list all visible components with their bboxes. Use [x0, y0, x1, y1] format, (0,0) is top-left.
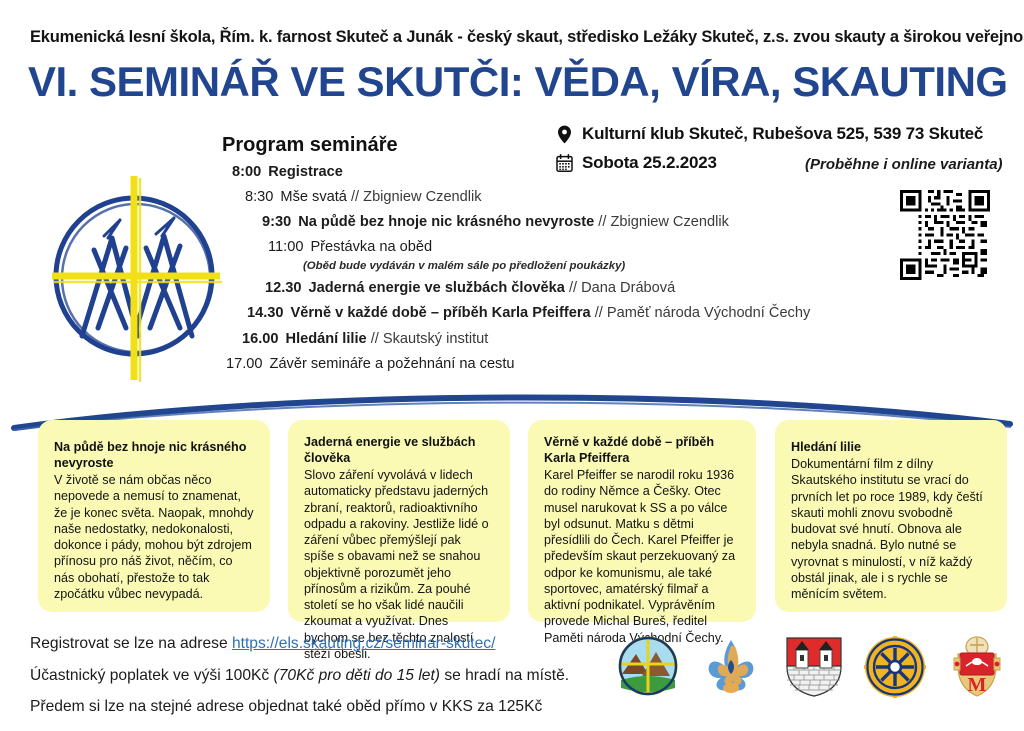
calendar-icon	[556, 154, 573, 173]
program-row: 12.30Jaderná energie ve službách člověka…	[0, 281, 860, 296]
fee-line: Účastnický poplatek ve výši 100Kč (70Kč …	[30, 668, 630, 684]
registration-link[interactable]: https://els.skauting.cz/seminar-skutec/	[232, 635, 495, 652]
program-time: 17.00	[226, 356, 263, 372]
registration-line: Registrovat se lze na adrese https://els…	[30, 636, 630, 652]
program-heading: Program semináře	[222, 134, 398, 157]
program-time: 9:30	[262, 214, 291, 230]
abstract-card: Hledání lilie Dokumentární film z dílny …	[775, 420, 1007, 612]
card-heading: Věrně v každé době – příběh Karla Pfeiff…	[544, 434, 740, 466]
footer-info: Registrovat se lze na adrese https://els…	[30, 636, 630, 731]
program-time: 16.00	[242, 331, 279, 347]
svg-text:M: M	[968, 674, 987, 696]
program-speaker: // Skautský institut	[371, 331, 489, 347]
program-row: 14.30Věrně v každé době – příběh Karla P…	[0, 306, 860, 321]
lunch-note: (Oběd bude vydáván v malém sále po předl…	[0, 260, 860, 272]
map-pin-icon	[556, 125, 573, 144]
program-time: 8:30	[245, 189, 273, 205]
registration-label: Registrovat se lze na adrese	[30, 635, 232, 652]
program-title: Závěr semináře a požehnání na cestu	[270, 356, 515, 372]
program-title: Na půdě bez hnoje nic krásného nevyroste	[298, 214, 594, 230]
program-row: 17.00Závěr semináře a požehnání na cestu	[0, 357, 860, 372]
program-title: Registrace	[268, 164, 343, 180]
fee-label: Účastnický poplatek ve výši 100Kč	[30, 667, 274, 684]
program-time: 8:00	[232, 164, 261, 180]
program-row: 9:30Na půdě bez hnoje nic krásného nevyr…	[0, 215, 860, 230]
program-title: Jaderná energie ve službách člověka	[309, 280, 565, 296]
program-title: Hledání lilie	[286, 331, 367, 347]
fee-suffix: se hradí na místě.	[440, 667, 569, 684]
program-speaker: // Zbigniew Czendlik	[598, 214, 729, 230]
organizers-line: Ekumenická lesní škola, Řím. k. farnost …	[30, 28, 994, 47]
venue-block: Kulturní klub Skuteč, Rubešova 525, 539 …	[556, 124, 1016, 182]
page-title: VI. SEMINÁŘ VE SKUTČI: VĚDA, VÍRA, SKAUT…	[28, 58, 1013, 106]
ekumenicka-lesni-skola-logo-icon	[618, 636, 678, 696]
qr-code[interactable]	[900, 190, 990, 280]
program-row: 11:00Přestávka na oběd	[0, 240, 860, 255]
abstract-card: Na půdě bez hnoje nic krásného nevyroste…	[38, 420, 270, 612]
partner-logos: M	[608, 636, 1018, 712]
lunch-order-line: Předem si lze na stejné adrese objednat …	[30, 699, 630, 715]
program-speaker: // Zbigniew Czendlik	[351, 189, 482, 205]
mesto-skutec-coat-of-arms-icon	[784, 636, 844, 698]
venue-place-line: Kulturní klub Skuteč, Rubešova 525, 539 …	[556, 124, 1016, 144]
program-title: Mše svatá	[280, 189, 347, 205]
program-row: 8:30Mše svatá // Zbigniew Czendlik	[0, 190, 860, 205]
poster-root: Ekumenická lesní škola, Řím. k. farnost …	[0, 0, 1024, 724]
program-list: 8:00Registrace 8:30Mše svatá // Zbigniew…	[0, 165, 860, 382]
card-heading: Na půdě bez hnoje nic krásného nevyroste	[54, 439, 254, 471]
farnost-skutec-logo-icon: M	[948, 636, 1006, 698]
venue-date: Sobota 25.2.2023	[582, 153, 717, 173]
card-heading: Jaderná energie ve službách člověka	[304, 434, 494, 466]
abstract-cards: Na půdě bez hnoje nic krásného nevyroste…	[0, 420, 1024, 630]
program-title: Věrně v každé době – příběh Karla Pfeiff…	[291, 305, 591, 321]
program-time: 12.30	[265, 280, 302, 296]
card-body: Dokumentární film z dílny Skautského ins…	[791, 456, 991, 602]
card-body: Slovo záření vyvolává v lidech automatic…	[304, 467, 494, 662]
abstract-card: Jaderná energie ve službách člověka Slov…	[288, 420, 510, 622]
junak-cesky-skaut-logo-icon	[701, 636, 761, 696]
abstract-card: Věrně v každé době – příběh Karla Pfeiff…	[528, 420, 756, 622]
program-row: 16.00Hledání lilie // Skautský institut	[0, 332, 860, 347]
venue-place: Kulturní klub Skuteč, Rubešova 525, 539 …	[582, 124, 983, 144]
card-heading: Hledání lilie	[791, 439, 991, 455]
online-variant-note: (Proběhne i online varianta)	[805, 156, 1003, 173]
program-time: 14.30	[247, 305, 284, 321]
rotary-international-logo-icon	[864, 636, 926, 698]
fee-child-note: (70Kč pro děti do 15 let)	[274, 667, 440, 684]
program-speaker: // Paměť národa Východní Čechy	[595, 305, 811, 321]
card-body: V životě se nám občas něco nepovede a ne…	[54, 472, 254, 602]
program-time: 11:00	[268, 239, 303, 255]
card-body: Karel Pfeiffer se narodil roku 1936 do r…	[544, 467, 740, 646]
program-title: Přestávka na oběd	[310, 239, 432, 255]
program-speaker: // Dana Drábová	[569, 280, 675, 296]
